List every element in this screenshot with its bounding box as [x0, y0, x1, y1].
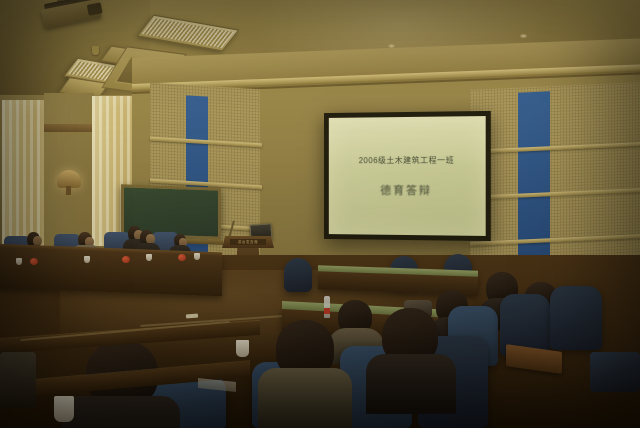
lecture-chair[interactable] [550, 286, 602, 350]
water-bottle[interactable] [324, 296, 330, 318]
wall-trim-band [44, 124, 96, 132]
apple[interactable] [30, 258, 38, 265]
podium-name-plate: 讲台发言席 [230, 239, 266, 245]
ceiling-light-fixture [137, 15, 239, 52]
backpack[interactable] [590, 352, 640, 392]
paper-cup[interactable] [16, 258, 22, 265]
lecture-chair[interactable] [284, 258, 312, 292]
paper-cup[interactable] [54, 396, 74, 422]
lecture-hall-photo: 2006级土木建筑工程一班 德育答辩 讲台发言席 [0, 0, 640, 428]
downlight [520, 34, 527, 38]
audience-shoulders [62, 396, 180, 428]
audience-shoulders [258, 368, 352, 428]
paper-cup[interactable] [194, 253, 200, 260]
cable-connector [186, 314, 198, 319]
panel-table [0, 248, 222, 297]
apple[interactable] [122, 256, 130, 263]
audience-shoulders [366, 354, 456, 414]
paper-cup[interactable] [146, 254, 152, 261]
window [2, 100, 46, 248]
projection-screen: 2006级土木建筑工程一班 德育答辩 [324, 111, 491, 241]
podium-name-plate-text: 讲台发言席 [238, 240, 259, 245]
projection-screen-surface: 2006级土木建筑工程一班 德育答辩 [329, 116, 486, 236]
apple[interactable] [178, 254, 186, 261]
paper-cup[interactable] [236, 340, 249, 357]
paper-cup[interactable] [84, 256, 90, 263]
curtain [2, 100, 46, 248]
backpack[interactable] [0, 352, 36, 408]
slide-subtitle: 德育答辩 [380, 181, 432, 197]
wall-sconce-light-icon [57, 170, 81, 188]
sprinkler-head-icon [92, 46, 99, 55]
slide-title: 2006级土木建筑工程一班 [359, 154, 455, 165]
